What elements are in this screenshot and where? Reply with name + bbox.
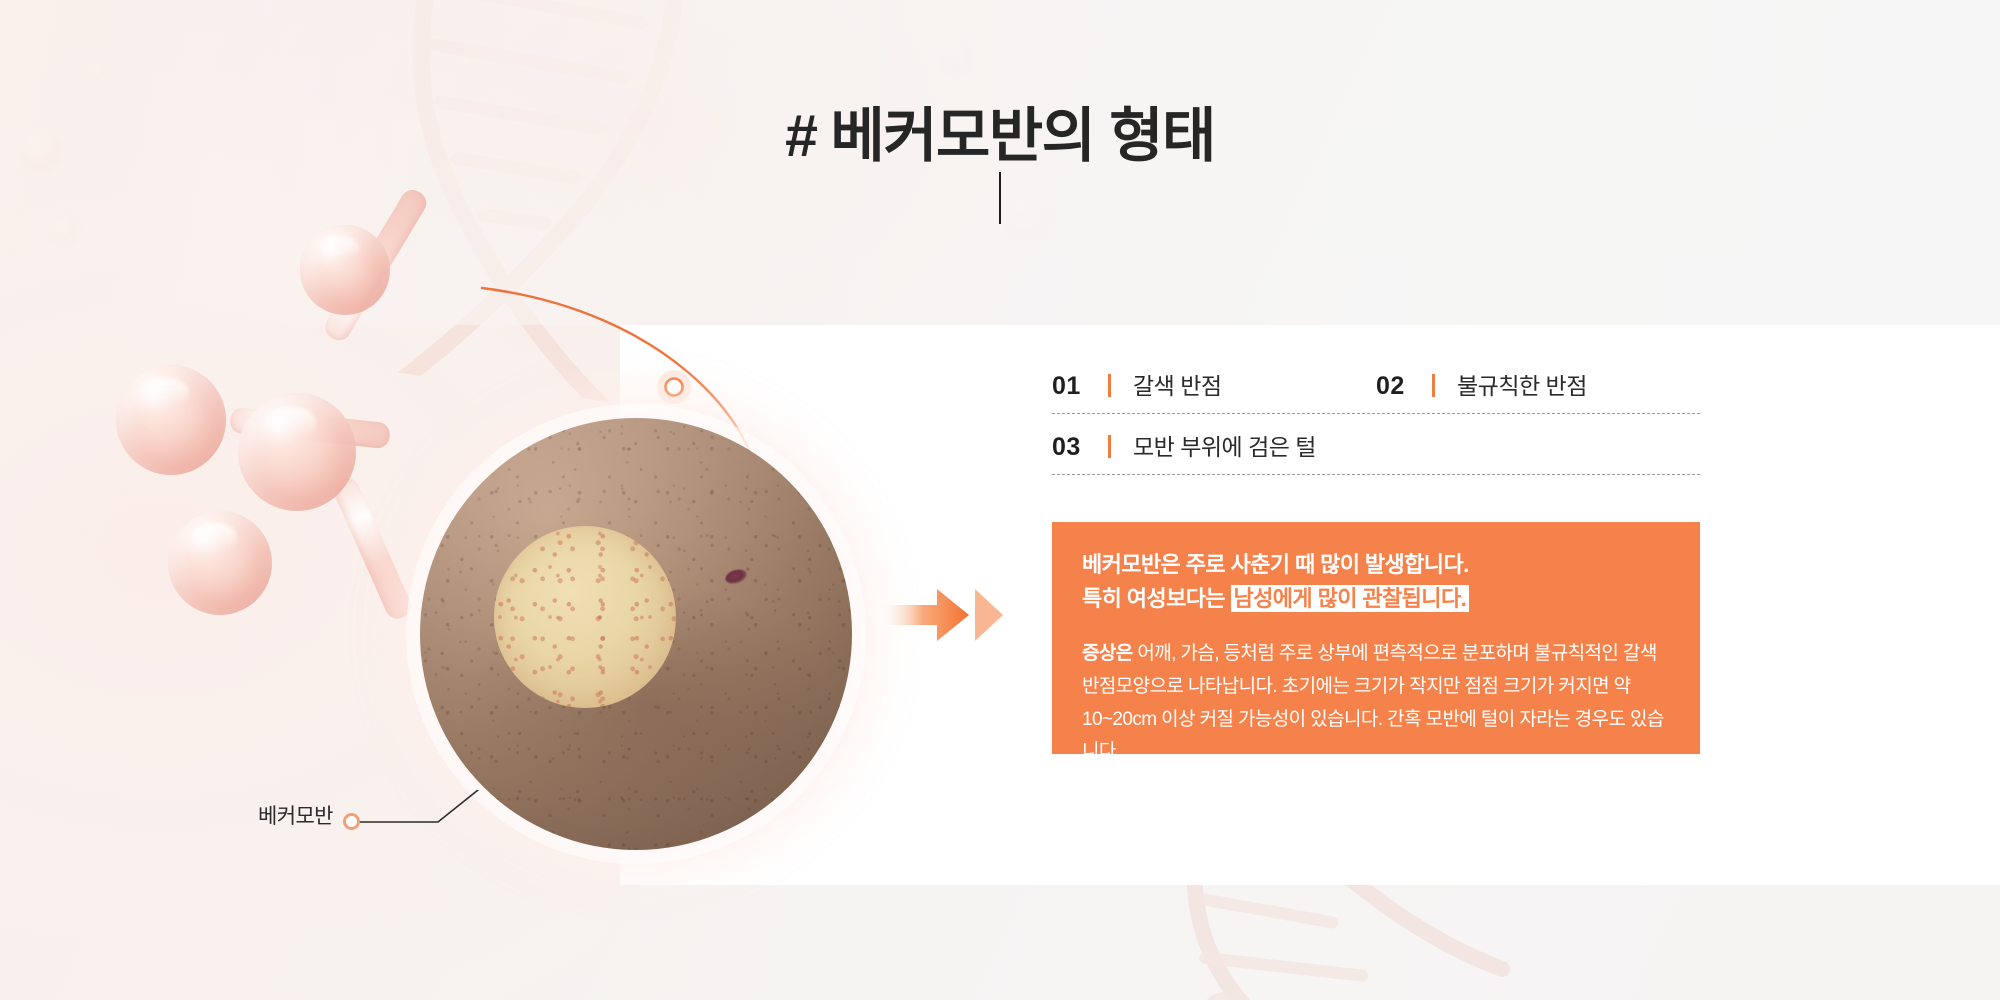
feature-separator-bar <box>1432 374 1435 397</box>
callout-body-bold: 증상은 <box>1082 643 1133 664</box>
feature-row: 01 갈색 반점 02 불규칙한 반점 <box>1052 365 1700 414</box>
feature-separator-bar <box>1108 374 1111 397</box>
feature-number: 02 <box>1376 372 1416 401</box>
feature-number: 03 <box>1052 433 1092 462</box>
callout-lead-line1: 베커모반은 주로 사춘기 때 많이 발생합니다. <box>1082 548 1670 582</box>
title-divider <box>999 172 1001 224</box>
callout-lead: 베커모반은 주로 사춘기 때 많이 발생합니다. 특히 여성보다는 남성에게 많… <box>1082 548 1670 616</box>
feature-item[interactable]: 03 모반 부위에 검은 털 <box>1052 428 1700 462</box>
callout-body: 증상은 어깨, 가슴, 등처럼 주로 상부에 편측적으로 분포하며 불규칙적인 … <box>1082 638 1670 769</box>
caption-leader-line <box>330 790 530 850</box>
feature-list: 01 갈색 반점 02 불규칙한 반점 03 모반 부위에 검은 털 <box>1052 365 1700 475</box>
feature-label: 불규칙한 반점 <box>1457 367 1587 401</box>
page-title-text: 베커모반의 형태 <box>830 103 1214 169</box>
callout-highlight: 남성에게 많이 관찰됩니다. <box>1231 585 1470 612</box>
orange-callout-box: 베커모반은 주로 사춘기 때 많이 발생합니다. 특히 여성보다는 남성에게 많… <box>1052 522 1700 754</box>
feature-separator-bar <box>1108 435 1111 458</box>
infographic-slide: #베커모반의 형태 <box>0 0 2000 1000</box>
callout-lead-line2: 특히 여성보다는 남성에게 많이 관찰됩니다. <box>1082 582 1670 616</box>
caption-marker-dot <box>343 813 360 830</box>
arrow-icon <box>885 585 1005 645</box>
feature-list-container: 01 갈색 반점 02 불규칙한 반점 03 모반 부위에 검은 털 <box>1052 365 1700 475</box>
feature-label: 갈색 반점 <box>1133 367 1222 401</box>
feature-label: 모반 부위에 검은 털 <box>1133 428 1316 462</box>
feature-item[interactable]: 02 불규칙한 반점 <box>1376 367 1700 401</box>
nevus-speckle-texture <box>494 526 676 708</box>
callout-body-text: 어깨, 가슴, 등처럼 주로 상부에 편측적으로 분포하며 불규칙적인 갈색 반… <box>1082 643 1664 762</box>
callout-lead-prefix: 특히 여성보다는 <box>1082 586 1231 611</box>
feature-number: 01 <box>1052 372 1092 401</box>
feature-row: 03 모반 부위에 검은 털 <box>1052 414 1700 475</box>
photo-caption: 베커모반 <box>258 800 333 830</box>
nevus-patch <box>494 526 676 708</box>
skin-photo <box>420 418 852 850</box>
feature-item[interactable]: 01 갈색 반점 <box>1052 367 1376 401</box>
hash-mark: # <box>785 103 816 169</box>
page-title: #베커모반의 형태 <box>0 88 2000 173</box>
